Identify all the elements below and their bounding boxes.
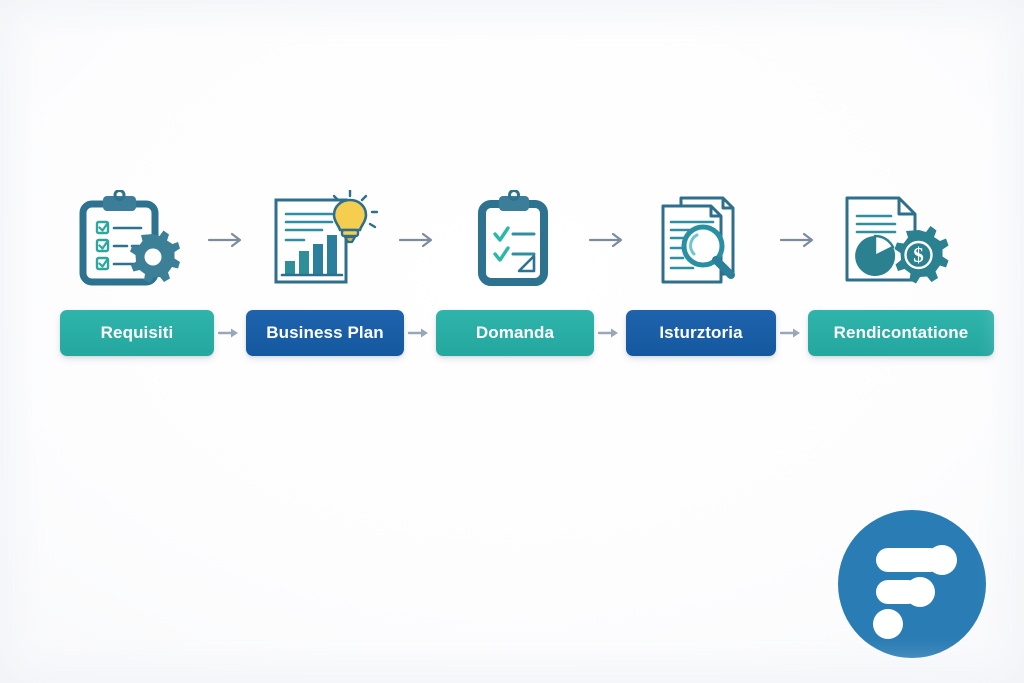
step-box-isturztoria[interactable]: Isturztoria xyxy=(626,310,776,356)
process-label-row: Requisiti Business Plan Domanda xyxy=(60,303,966,363)
brand-logo-icon xyxy=(836,508,988,660)
step-box-rendicontatione[interactable]: Rendicontatione xyxy=(808,310,994,356)
arrow-right-icon xyxy=(588,230,626,250)
icon-arrow-2 xyxy=(395,225,439,255)
process-icon-row: $ xyxy=(72,186,952,294)
step-label-5: Rendicontatione xyxy=(834,323,969,343)
step-label-3: Domanda xyxy=(476,323,554,343)
arrow-right-icon xyxy=(207,230,245,250)
step-box-domanda[interactable]: Domanda xyxy=(436,310,594,356)
step-1-icon-cell xyxy=(72,188,190,292)
step-5-icon-cell: $ xyxy=(834,188,952,292)
documents-magnifier-icon xyxy=(647,190,759,290)
icon-arrow-1 xyxy=(204,225,248,255)
step-4-icon-cell xyxy=(644,188,762,292)
arrow-right-small-icon xyxy=(779,325,805,341)
step-box-business-plan[interactable]: Business Plan xyxy=(246,310,404,356)
diagram-canvas: $ Requisiti Business Plan Domanda xyxy=(0,0,1024,683)
step-box-requisiti[interactable]: Requisiti xyxy=(60,310,214,356)
box-arrow-2 xyxy=(404,323,436,343)
document-barchart-lightbulb-icon xyxy=(266,190,378,290)
svg-text:$: $ xyxy=(913,243,924,267)
icon-arrow-3 xyxy=(585,225,629,255)
box-arrow-3 xyxy=(594,323,626,343)
arrow-right-icon xyxy=(779,230,817,250)
step-2-icon-cell xyxy=(263,188,381,292)
clipboard-checkmarks-icon xyxy=(456,190,568,290)
document-piechart-dollar-gear-icon: $ xyxy=(837,190,949,290)
step-label-4: Isturztoria xyxy=(659,323,742,343)
box-arrow-1 xyxy=(214,323,246,343)
icon-arrow-4 xyxy=(776,225,820,255)
step-label-2: Business Plan xyxy=(266,323,384,343)
step-label-1: Requisiti xyxy=(101,323,174,343)
arrow-right-icon xyxy=(398,230,436,250)
clipboard-checklist-gear-icon xyxy=(75,190,187,290)
arrow-right-small-icon xyxy=(407,325,433,341)
brand-logo[interactable] xyxy=(836,508,988,660)
arrow-right-small-icon xyxy=(597,325,623,341)
arrow-right-small-icon xyxy=(217,325,243,341)
step-3-icon-cell xyxy=(453,188,571,292)
box-arrow-4 xyxy=(776,323,808,343)
